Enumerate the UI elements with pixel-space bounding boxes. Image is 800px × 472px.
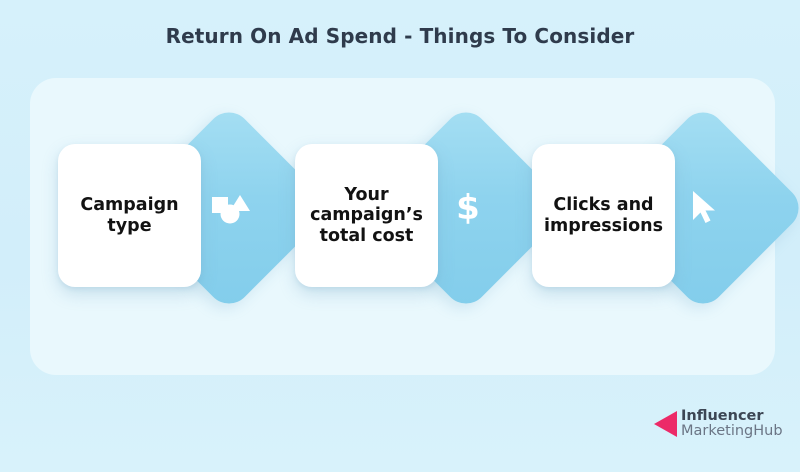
brand-name-line-1: Influencer [681, 409, 783, 424]
brand-logo: Influencer MarketingHub [652, 404, 783, 444]
step-item: Campaign type [50, 112, 280, 322]
step-label: Clicks and impressions [544, 195, 663, 236]
step-item: Your campaign’s total cost $ [287, 112, 517, 322]
step-card: Clicks and impressions [532, 144, 675, 287]
dollar-sign-icon: $ [446, 186, 490, 230]
cursor-arrow-icon [683, 186, 727, 230]
page-title: Return On Ad Spend - Things To Consider [0, 24, 800, 48]
steps-row: Campaign type Your campaign’s total cost… [0, 112, 800, 322]
step-card: Campaign type [58, 144, 201, 287]
infographic-canvas: Return On Ad Spend - Things To Consider … [0, 0, 800, 472]
dollar-sign-glyph: $ [456, 191, 480, 225]
step-item: Clicks and impressions [524, 112, 754, 322]
brand-name-line-2: MarketingHub [681, 424, 783, 439]
step-label: Campaign type [80, 195, 178, 236]
shapes-icon [209, 186, 253, 230]
step-label: Your campaign’s total cost [310, 185, 423, 246]
step-card: Your campaign’s total cost [295, 144, 438, 287]
pink-triangle-icon [652, 409, 678, 439]
brand-logo-text: Influencer MarketingHub [681, 409, 783, 439]
